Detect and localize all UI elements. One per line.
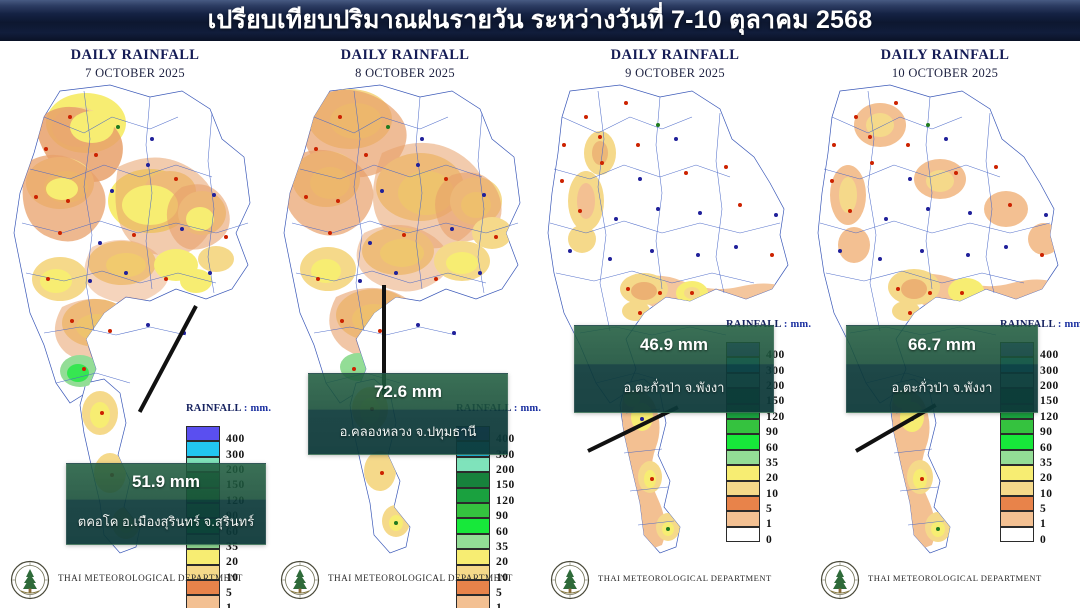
callout-value: 51.9 mm (67, 464, 265, 499)
legend-label: 60 (1040, 442, 1053, 454)
rainfall-comparison-infographic: เปรียบเทียบปริมาณฝนรายวัน ระหว่างวันที่ … (0, 0, 1080, 608)
legend-swatch (456, 503, 490, 518)
callout-value: 72.6 mm (309, 374, 507, 409)
legend-swatch (1000, 511, 1034, 526)
legend-label: 35 (766, 457, 779, 469)
legend-swatch (726, 496, 760, 511)
callout-location: อ.ตะกั่วป่า จ.พังงา (847, 364, 1037, 412)
legend-entry: 400 (186, 426, 220, 441)
legend-label: 20 (766, 472, 779, 484)
legend-swatch (186, 426, 220, 441)
legend-swatch (726, 527, 760, 542)
panel-heading: DAILY RAINFALL (540, 47, 810, 64)
panel-heading: DAILY RAINFALL (0, 47, 270, 64)
panel-header: DAILY RAINFALL 7 OCTOBER 2025 (0, 41, 270, 81)
legend-label: 90 (1040, 426, 1053, 438)
legend-entry: 60 (726, 434, 760, 449)
legend-label: 1 (1040, 518, 1046, 530)
legend-label: 120 (496, 495, 515, 507)
panel-7-october: DAILY RAINFALL 7 OCTOBER 2025 (0, 41, 270, 608)
legend-entry: 0 (726, 527, 760, 542)
legend-entry: 150 (456, 472, 490, 487)
legend-entry: 90 (1000, 419, 1034, 434)
legend-swatch (456, 518, 490, 533)
page-title: เปรียบเทียบปริมาณฝนรายวัน ระหว่างวันที่ … (208, 0, 873, 41)
legend-swatch (456, 534, 490, 549)
panel-8-october: DAILY RAINFALL 8 OCTOBER 2025 (270, 41, 540, 608)
legend-label: 200 (496, 464, 515, 476)
legend-label: 0 (1040, 534, 1046, 546)
legend-label: 35 (496, 541, 509, 553)
legend-swatch (456, 488, 490, 503)
panel-date: 10 OCTOBER 2025 (810, 66, 1080, 81)
panel-date: 7 OCTOBER 2025 (0, 66, 270, 81)
legend-entry: 200 (456, 457, 490, 472)
panel-date: 9 OCTOBER 2025 (540, 66, 810, 81)
legend-label: 400 (226, 433, 245, 445)
legend-entry: 35 (726, 450, 760, 465)
max-rainfall-callout: 51.9 mm ตคอโค อ.เมืองสุรินทร์ จ.สุรินทร์ (66, 463, 266, 545)
panel-date: 8 OCTOBER 2025 (270, 66, 540, 81)
legend-swatch (1000, 450, 1034, 465)
thai-meteorological-department-seal-icon (10, 560, 50, 600)
legend-swatch (456, 457, 490, 472)
legend-swatch (726, 465, 760, 480)
callout-location: อ.ตะกั่วป่า จ.พังงา (575, 364, 773, 412)
legend-swatch (726, 511, 760, 526)
panel-header: DAILY RAINFALL 9 OCTOBER 2025 (540, 41, 810, 81)
legend-label: 150 (496, 479, 515, 491)
legend-swatch (1000, 496, 1034, 511)
panel-heading: DAILY RAINFALL (270, 47, 540, 64)
legend-label: 300 (226, 449, 245, 461)
legend-label: 60 (496, 526, 509, 538)
panel-footer: THAI METEOROLOGICAL DEPARTMENT (0, 558, 270, 604)
agency-name: THAI METEOROLOGICAL DEPARTMENT (58, 573, 243, 583)
callout-value: 66.7 mm (847, 326, 1037, 364)
legend-swatch (456, 472, 490, 487)
thai-meteorological-department-seal-icon (820, 560, 860, 600)
legend-label: 60 (766, 442, 779, 454)
legend-entry: 120 (456, 488, 490, 503)
thai-meteorological-department-seal-icon (280, 560, 320, 600)
legend-entry: 35 (456, 534, 490, 549)
legend-label: 300 (1040, 365, 1059, 377)
legend-entry: 0 (1000, 527, 1034, 542)
legend-label: 200 (1040, 380, 1059, 392)
legend-entry: 1 (1000, 511, 1034, 526)
legend-label: 10 (766, 488, 779, 500)
legend-title: RAINFALL : mm. (186, 403, 272, 414)
legend-entry: 1 (726, 511, 760, 526)
legend-swatch (726, 450, 760, 465)
legend-entry: 90 (726, 419, 760, 434)
legend-swatch (726, 434, 760, 449)
max-rainfall-callout: 66.7 mm อ.ตะกั่วป่า จ.พังงา (846, 325, 1038, 413)
legend-label: 90 (496, 510, 509, 522)
callout-location: อ.คลองหลวง จ.ปทุมธานี (309, 409, 507, 454)
legend-entry: 20 (726, 465, 760, 480)
callout-location: ตคอโค อ.เมืองสุรินทร์ จ.สุรินทร์ (67, 499, 265, 544)
max-rainfall-callout: 72.6 mm อ.คลองหลวง จ.ปทุมธานี (308, 373, 508, 455)
panel-footer: THAI METEOROLOGICAL DEPARTMENT (540, 558, 810, 604)
panel-footer: THAI METEOROLOGICAL DEPARTMENT (270, 558, 540, 604)
legend-label: 120 (1040, 411, 1059, 423)
legend-label: 10 (1040, 488, 1053, 500)
legend-entry: 20 (1000, 465, 1034, 480)
panel-9-october: DAILY RAINFALL 9 OCTOBER 2025 (540, 41, 810, 608)
legend-swatch (186, 441, 220, 456)
agency-name: THAI METEOROLOGICAL DEPARTMENT (868, 573, 1042, 583)
legend-entry: 10 (1000, 481, 1034, 496)
legend-label: 90 (766, 426, 779, 438)
legend-swatch (726, 481, 760, 496)
legend-label: 35 (1040, 457, 1053, 469)
legend-entry: 5 (1000, 496, 1034, 511)
legend-entry: 10 (726, 481, 760, 496)
legend-entry: 5 (726, 496, 760, 511)
legend-label: 5 (766, 503, 772, 515)
legend-label: 20 (1040, 472, 1053, 484)
title-banner: เปรียบเทียบปริมาณฝนรายวัน ระหว่างวันที่ … (0, 0, 1080, 41)
legend-label: 400 (1040, 349, 1059, 361)
legend-label: 150 (1040, 395, 1059, 407)
agency-name: THAI METEOROLOGICAL DEPARTMENT (328, 573, 513, 583)
legend-swatch (1000, 527, 1034, 542)
legend-entry: 35 (1000, 450, 1034, 465)
legend-entry: 60 (456, 518, 490, 533)
legend-entry: 300 (186, 441, 220, 456)
panel-10-october: DAILY RAINFALL 10 OCTOBER 2025 (810, 41, 1080, 608)
legend-label: 0 (766, 534, 772, 546)
panel-header: DAILY RAINFALL 10 OCTOBER 2025 (810, 41, 1080, 81)
legend-entry: 60 (1000, 434, 1034, 449)
panel-header: DAILY RAINFALL 8 OCTOBER 2025 (270, 41, 540, 81)
panel-heading: DAILY RAINFALL (810, 47, 1080, 64)
legend-swatch (726, 419, 760, 434)
legend-swatch (1000, 434, 1034, 449)
legend-swatch (1000, 465, 1034, 480)
agency-name: THAI METEOROLOGICAL DEPARTMENT (598, 573, 772, 583)
legend-label: 1 (766, 518, 772, 530)
max-rainfall-callout: 46.9 mm อ.ตะกั่วป่า จ.พังงา (574, 325, 774, 413)
legend-label: 5 (1040, 503, 1046, 515)
callout-value: 46.9 mm (575, 326, 773, 364)
legend-swatch (1000, 481, 1034, 496)
legend-entry: 90 (456, 503, 490, 518)
thai-meteorological-department-seal-icon (550, 560, 590, 600)
panel-footer: THAI METEOROLOGICAL DEPARTMENT (810, 558, 1080, 604)
legend-swatch (1000, 419, 1034, 434)
